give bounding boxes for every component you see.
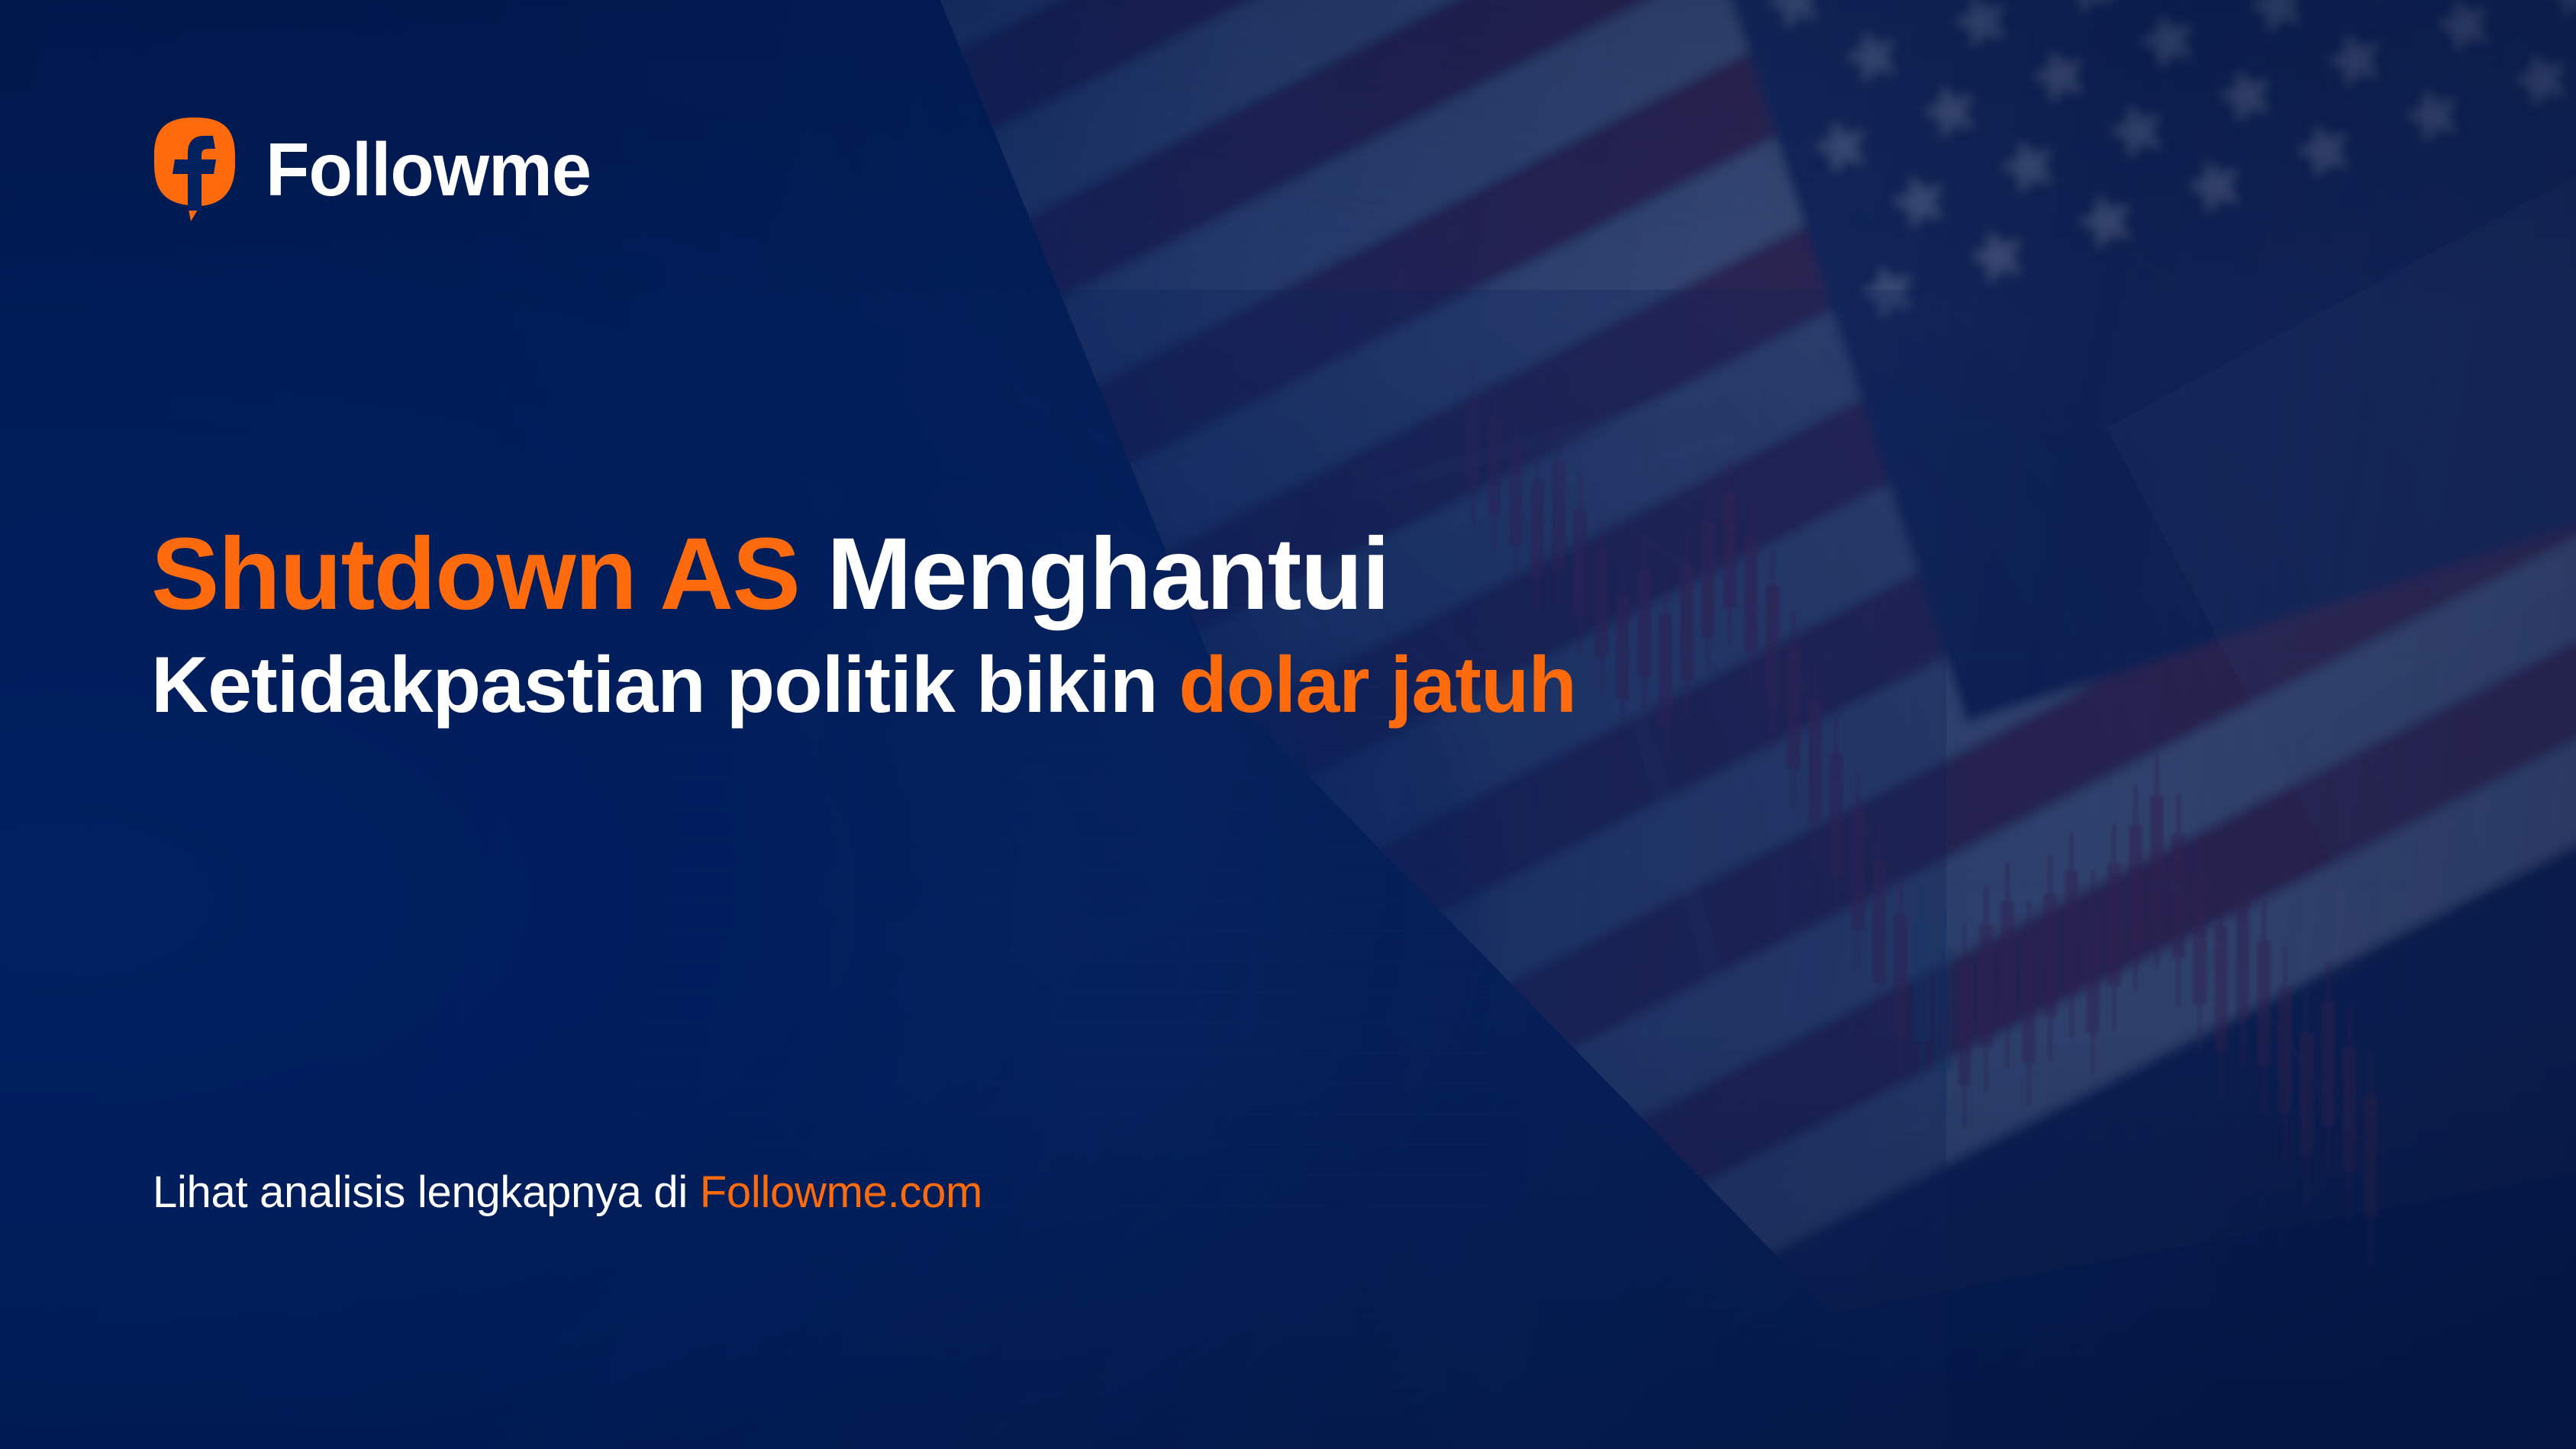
headline-space-2 [1157, 641, 1178, 729]
headline-plain-ketidakpastian: Ketidakpastian politik bikin [151, 641, 1157, 729]
headline-plain-menghantui: Menghantui [827, 517, 1389, 631]
banner-content: Followme Shutdown AS Menghantui Ketidakp… [0, 0, 2576, 1449]
headline-line-1: Shutdown AS Menghantui [151, 523, 2250, 626]
cta-followme-link[interactable]: Followme.com [700, 1167, 982, 1217]
brand-wordmark: Followme [266, 132, 591, 207]
cta-space [688, 1167, 700, 1217]
headline-block: Shutdown AS Menghantui Ketidakpastian po… [151, 523, 2250, 725]
brand-logo[interactable]: Followme [150, 116, 605, 223]
promo-banner: Followme Shutdown AS Menghantui Ketidakp… [0, 0, 2576, 1449]
headline-accent-shutdown: Shutdown AS [151, 517, 799, 631]
headline-line-2: Ketidakpastian politik bikin dolar jatuh [151, 646, 2250, 725]
followme-speech-bubble-f-icon [150, 116, 240, 223]
cta-prefix-text: Lihat analisis lengkapnya di [153, 1167, 688, 1217]
headline-accent-dolar-jatuh: dolar jatuh [1178, 641, 1576, 729]
cta-line: Lihat analisis lengkapnya di Followme.co… [153, 1170, 982, 1215]
headline-space-1 [799, 517, 827, 631]
